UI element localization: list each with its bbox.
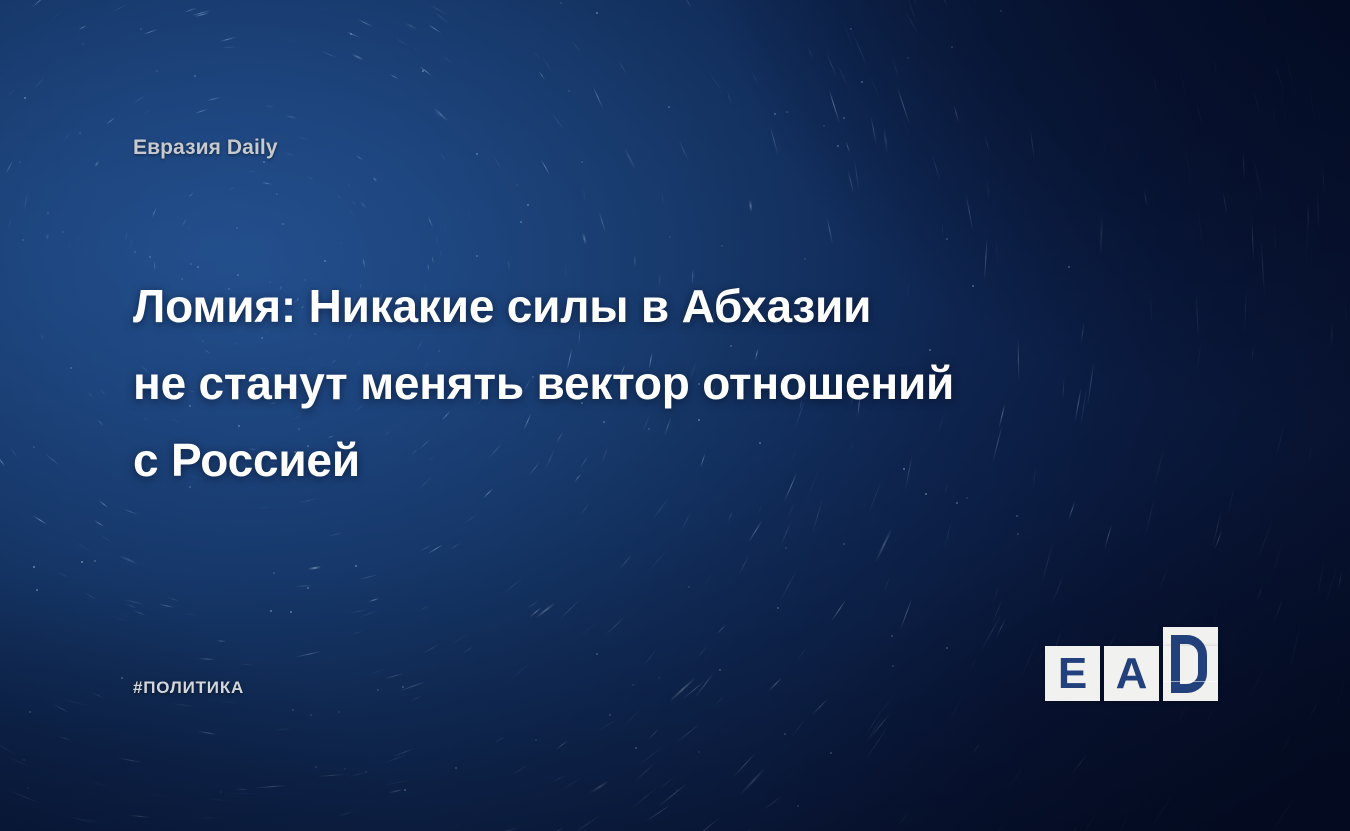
headline-line-2: не станут менять вектор отношений — [133, 345, 1143, 422]
logo-letter-e: E — [1045, 646, 1100, 701]
site-name: Евразия Daily — [133, 136, 278, 160]
headline-line-1: Ломия: Никакие силы в Абхазии — [133, 268, 1143, 345]
logo-letter-d — [1163, 627, 1218, 701]
news-share-card: Евразия Daily Ломия: Никакие силы в Абха… — [0, 0, 1350, 831]
logo-tile-seam — [1163, 681, 1218, 682]
card-content: Евразия Daily Ломия: Никакие силы в Абха… — [0, 0, 1350, 831]
category-tag[interactable]: #ПОЛИТИКА — [133, 678, 244, 698]
eadaily-logo[interactable]: E A — [1045, 627, 1221, 701]
logo-letter-d-lower — [1171, 655, 1207, 693]
logo-letter-a: A — [1104, 646, 1159, 701]
headline-line-3: с Россией — [133, 422, 1143, 499]
headline: Ломия: Никакие силы в Абхазии не станут … — [133, 268, 1143, 499]
